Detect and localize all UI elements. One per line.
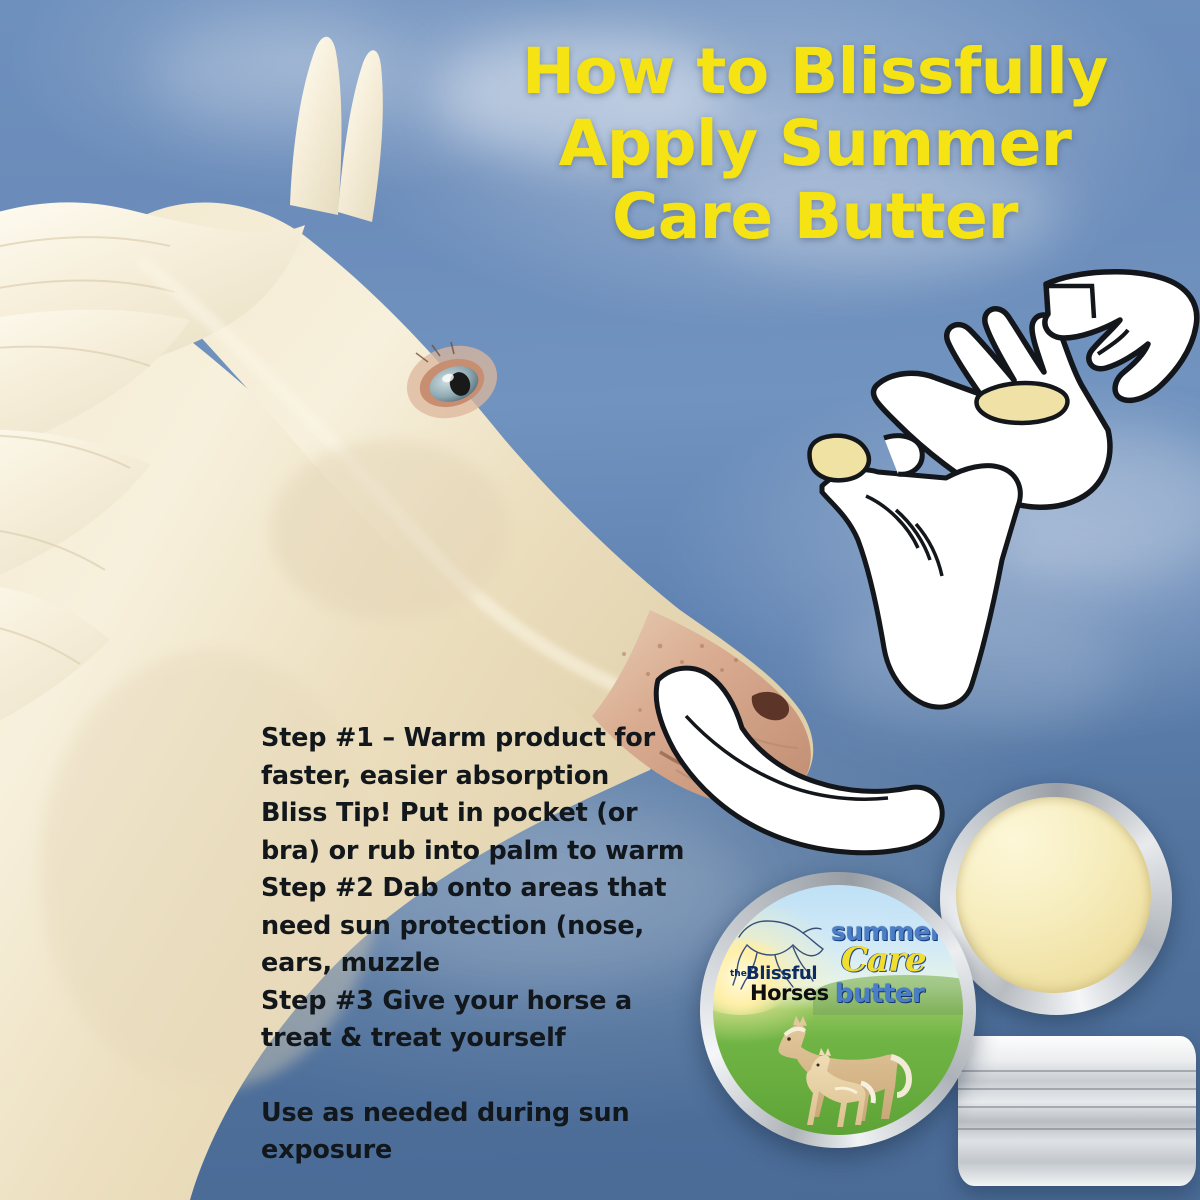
- instruction-line: Step #2 Dab onto areas that: [261, 870, 691, 908]
- title-line-2: Apply Summer: [470, 108, 1160, 180]
- product-tin-label: the Blissful Horses summer Care butter: [700, 872, 976, 1148]
- tin-ring: [958, 1128, 1196, 1130]
- instruction-line: need sun protection (nose,: [261, 908, 691, 946]
- title-line-3: Care Butter: [470, 181, 1160, 253]
- instruction-line: Step #1 – Warm product for: [261, 720, 691, 758]
- brand-horses: Horses: [750, 981, 829, 1005]
- footer-line: Use as needed during sun: [261, 1095, 691, 1133]
- brand-the: the: [730, 969, 747, 979]
- title-line-1: How to Blissfully: [470, 36, 1160, 108]
- open-tin-with-butter: [940, 783, 1172, 1015]
- product-name-care: Care: [841, 940, 926, 980]
- label-artwork: the Blissful Horses summer Care butter: [713, 885, 963, 1135]
- hand-offering-treat-icon: [650, 660, 950, 860]
- instruction-line: Bliss Tip! Put in pocket (or: [261, 795, 691, 833]
- instructions-block: Step #1 – Warm product for faster, easie…: [261, 720, 691, 1170]
- tin-ring: [958, 1088, 1196, 1090]
- instruction-line: treat & treat yourself: [261, 1020, 691, 1058]
- tin-ring: [958, 1070, 1196, 1072]
- instruction-line: ears, muzzle: [261, 945, 691, 983]
- product-name-butter: butter: [835, 979, 924, 1009]
- tin-ring: [958, 1106, 1196, 1108]
- paragraph-gap: [261, 1058, 691, 1095]
- instruction-line: faster, easier absorption: [261, 758, 691, 796]
- instruction-line: Step #3 Give your horse a: [261, 983, 691, 1021]
- page-title: How to Blissfully Apply Summer Care Butt…: [470, 36, 1160, 253]
- footer-line: exposure: [261, 1132, 691, 1170]
- mare-and-foal-icon: [749, 1013, 929, 1131]
- tin-base: [958, 1036, 1196, 1186]
- instruction-line: bra) or rub into palm to warm: [261, 833, 691, 871]
- poster-canvas: How to Blissfully Apply Summer Care Butt…: [0, 0, 1200, 1200]
